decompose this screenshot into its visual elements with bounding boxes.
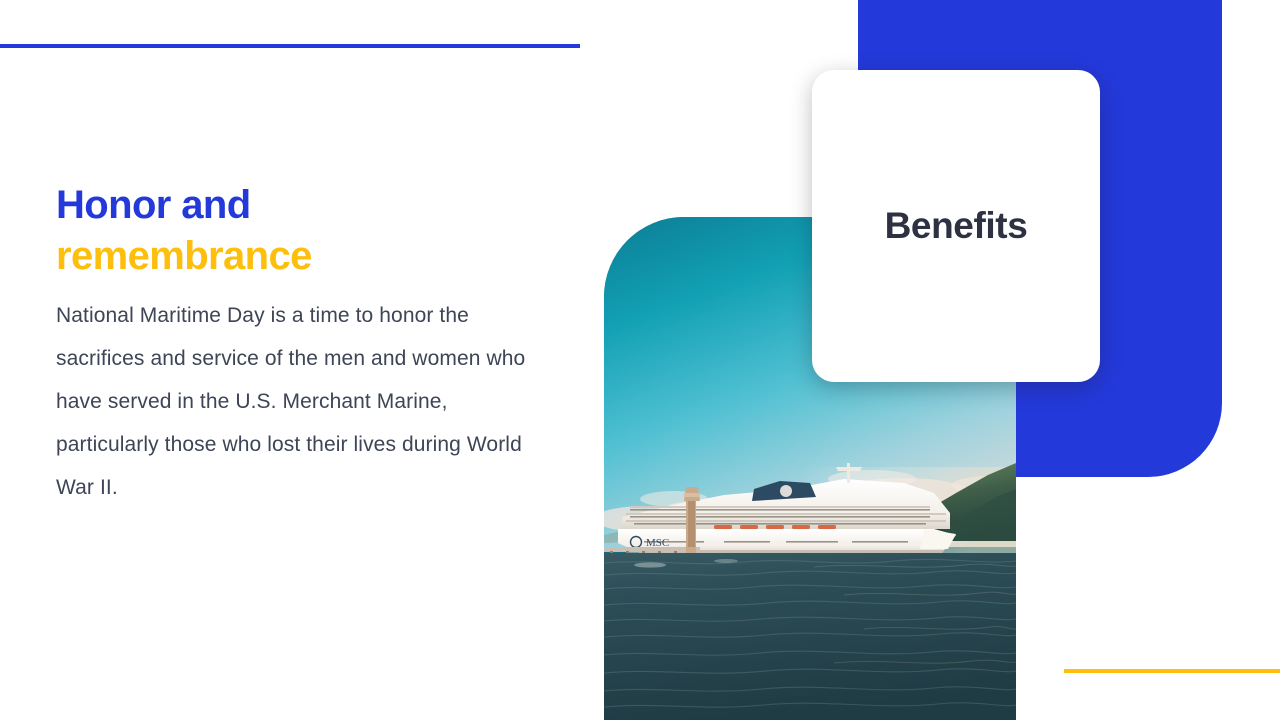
page-title: Honor and remembrance <box>56 180 556 282</box>
headline-line-2: remembrance <box>56 231 556 282</box>
text-column: Honor and remembrance National Maritime … <box>56 180 556 509</box>
benefits-card[interactable]: Benefits <box>812 70 1100 382</box>
headline-line-1: Honor and <box>56 180 556 231</box>
benefits-card-title: Benefits <box>885 205 1028 247</box>
slide-canvas: MSC <box>0 0 1280 720</box>
bottom-accent-rule <box>1064 669 1280 673</box>
top-accent-rule <box>0 44 580 48</box>
body-paragraph: National Maritime Day is a time to honor… <box>56 294 556 509</box>
